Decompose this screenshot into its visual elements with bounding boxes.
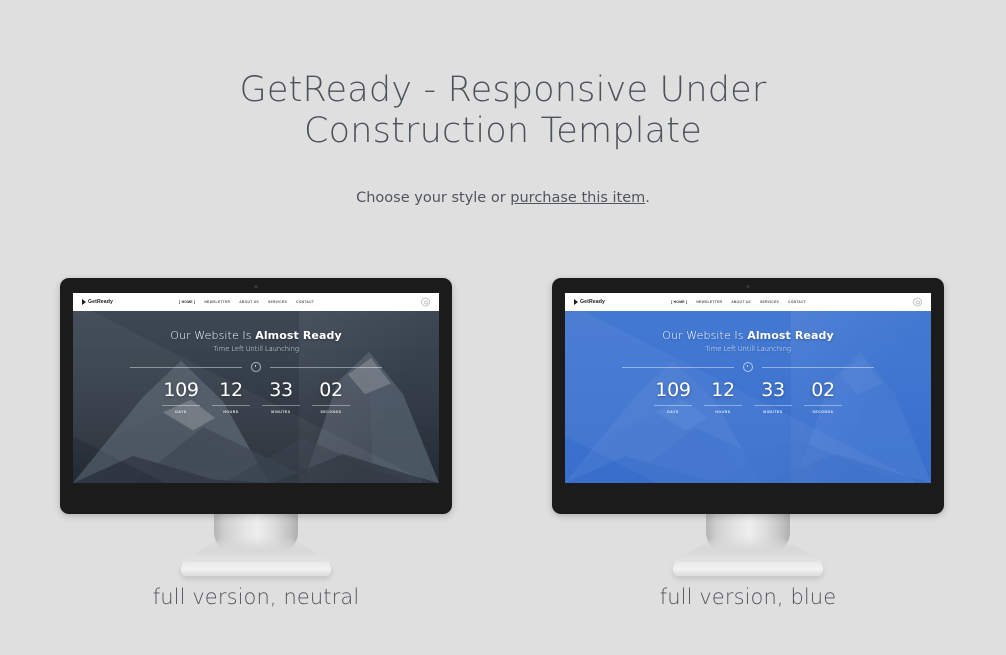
- hero-headline-light: Our Website Is: [662, 329, 747, 342]
- site-logo-label: GetReady: [580, 299, 605, 305]
- stand-base: [673, 562, 823, 576]
- countdown-label-minutes: MINUTES: [748, 410, 798, 414]
- search-icon[interactable]: [913, 298, 922, 307]
- hero-divider: [622, 362, 874, 371]
- purchase-link[interactable]: purchase this item: [510, 190, 645, 206]
- nav-item-home[interactable]: [ HOME ]: [671, 300, 687, 304]
- countdown-rule: [704, 405, 742, 406]
- stand-neck: [214, 506, 298, 562]
- hero-headline: Our Website Is Almost Ready: [73, 329, 439, 342]
- divider-line-left: [622, 367, 734, 368]
- countdown-label-seconds: SECONDS: [798, 410, 848, 414]
- countdown-cell-minutes: 33 MINUTES: [748, 380, 798, 414]
- divider-line-right: [762, 367, 874, 368]
- countdown-timer: 109 DAYS 12 HOURS 33: [156, 380, 356, 414]
- countdown-value-seconds: 02: [306, 380, 356, 401]
- subtitle-prefix: Choose your style or: [356, 190, 510, 206]
- site-navbar: GetReady [ HOME ] NEWSLETTER ABOUT US SE…: [73, 293, 439, 311]
- countdown-value-seconds: 02: [798, 380, 848, 401]
- site-nav-items: [ HOME ] NEWSLETTER ABOUT US SERVICES CO…: [179, 300, 314, 304]
- hero-divider: [130, 362, 382, 371]
- site-navbar: GetReady [ HOME ] NEWSLETTER ABOUT US SE…: [565, 293, 931, 311]
- site-nav-items: [ HOME ] NEWSLETTER ABOUT US SERVICES CO…: [671, 300, 806, 304]
- nav-item-newsletter[interactable]: NEWSLETTER: [696, 300, 722, 304]
- countdown-rule: [654, 405, 692, 406]
- hero-section: Our Website Is Almost Ready Time Left Un…: [73, 311, 439, 483]
- countdown-cell-seconds: 02 SECONDS: [798, 380, 848, 414]
- stand-flare: [181, 536, 331, 568]
- site-logo[interactable]: GetReady: [574, 299, 605, 305]
- monitor-stand: [181, 506, 331, 578]
- site-logo[interactable]: GetReady: [82, 299, 113, 305]
- countdown-label-hours: HOURS: [206, 410, 256, 414]
- countdown-rule: [312, 405, 350, 406]
- countdown-value-minutes: 33: [748, 380, 798, 401]
- hero-section: Our Website Is Almost Ready Time Left Un…: [565, 311, 931, 483]
- divider-line-left: [130, 367, 242, 368]
- hero-headline-light: Our Website Is: [170, 329, 255, 342]
- monitor-preview-blue[interactable]: GetReady [ HOME ] NEWSLETTER ABOUT US SE…: [552, 278, 944, 514]
- countdown-rule: [262, 405, 300, 406]
- countdown-cell-days: 109 DAYS: [156, 380, 206, 414]
- page-subtitle: Choose your style or purchase this item.: [0, 190, 1006, 206]
- countdown-cell-minutes: 33 MINUTES: [256, 380, 306, 414]
- countdown-rule: [212, 405, 250, 406]
- monitor-bezel: GetReady [ HOME ] NEWSLETTER ABOUT US SE…: [60, 278, 452, 514]
- nav-item-contact[interactable]: CONTACT: [296, 300, 314, 304]
- nav-item-contact[interactable]: CONTACT: [788, 300, 806, 304]
- nav-item-newsletter[interactable]: NEWSLETTER: [204, 300, 230, 304]
- monitor-stand: [673, 506, 823, 578]
- countdown-cell-seconds: 02 SECONDS: [306, 380, 356, 414]
- countdown-cell-hours: 12 HOURS: [698, 380, 748, 414]
- stand-flare: [673, 536, 823, 568]
- subtitle-suffix: .: [645, 190, 650, 206]
- countdown-value-days: 109: [648, 380, 698, 401]
- countdown-value-minutes: 33: [256, 380, 306, 401]
- monitor-previews: GetReady [ HOME ] NEWSLETTER ABOUT US SE…: [0, 278, 1006, 618]
- stand-neck: [706, 506, 790, 562]
- nav-item-about-us[interactable]: ABOUT US: [239, 300, 259, 304]
- nav-item-home[interactable]: [ HOME ]: [179, 300, 195, 304]
- monitor-screen[interactable]: GetReady [ HOME ] NEWSLETTER ABOUT US SE…: [565, 293, 931, 483]
- site-logo-label: GetReady: [88, 299, 113, 305]
- clock-icon: [743, 362, 753, 372]
- monitor-bezel: GetReady [ HOME ] NEWSLETTER ABOUT US SE…: [552, 278, 944, 514]
- countdown-cell-hours: 12 HOURS: [206, 380, 256, 414]
- countdown-value-hours: 12: [698, 380, 748, 401]
- play-triangle-icon: [574, 299, 578, 305]
- stand-base: [181, 562, 331, 576]
- hero-subheadline: Time Left Untill Launching: [73, 345, 439, 353]
- preview-caption-neutral: full version, neutral: [60, 585, 452, 609]
- play-triangle-icon: [82, 299, 86, 305]
- countdown-cell-days: 109 DAYS: [648, 380, 698, 414]
- nav-item-services[interactable]: SERVICES: [760, 300, 779, 304]
- countdown-value-days: 109: [156, 380, 206, 401]
- hero-content: Our Website Is Almost Ready Time Left Un…: [565, 311, 931, 414]
- nav-item-about-us[interactable]: ABOUT US: [731, 300, 751, 304]
- nav-item-services[interactable]: SERVICES: [268, 300, 287, 304]
- preview-caption-blue: full version, blue: [552, 585, 944, 609]
- webcam-icon: [747, 285, 750, 288]
- page-title: GetReady - Responsive Under Construction…: [123, 70, 883, 152]
- hero-subheadline: Time Left Untill Launching: [565, 345, 931, 353]
- hero-headline-bold: Almost Ready: [255, 329, 342, 342]
- monitor-preview-neutral[interactable]: GetReady [ HOME ] NEWSLETTER ABOUT US SE…: [60, 278, 452, 514]
- countdown-timer: 109 DAYS 12 HOURS 33: [648, 380, 848, 414]
- search-icon[interactable]: [421, 298, 430, 307]
- monitor-screen[interactable]: GetReady [ HOME ] NEWSLETTER ABOUT US SE…: [73, 293, 439, 483]
- countdown-label-seconds: SECONDS: [306, 410, 356, 414]
- webcam-icon: [255, 285, 258, 288]
- countdown-rule: [162, 405, 200, 406]
- countdown-label-days: DAYS: [648, 410, 698, 414]
- hero-content: Our Website Is Almost Ready Time Left Un…: [73, 311, 439, 414]
- countdown-label-hours: HOURS: [698, 410, 748, 414]
- countdown-label-minutes: MINUTES: [256, 410, 306, 414]
- page-header: GetReady - Responsive Under Construction…: [0, 0, 1006, 206]
- countdown-rule: [804, 405, 842, 406]
- countdown-label-days: DAYS: [156, 410, 206, 414]
- hero-headline-bold: Almost Ready: [747, 329, 834, 342]
- countdown-rule: [754, 405, 792, 406]
- hero-headline: Our Website Is Almost Ready: [565, 329, 931, 342]
- clock-icon: [251, 362, 261, 372]
- countdown-value-hours: 12: [206, 380, 256, 401]
- divider-line-right: [270, 367, 382, 368]
